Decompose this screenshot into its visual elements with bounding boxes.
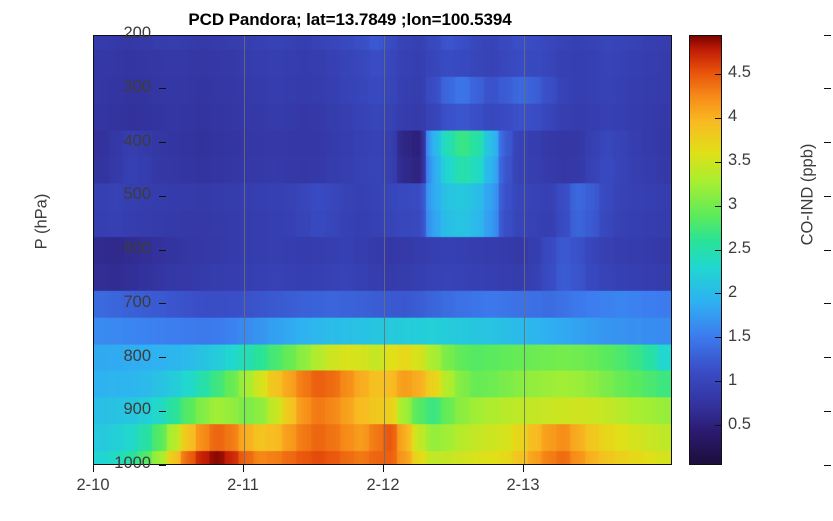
y-tick-mark [159, 357, 166, 358]
colorbar-tick-mark [715, 206, 722, 207]
colorbar-tick-label: 3.5 [728, 151, 751, 170]
heatmap-image [94, 36, 671, 464]
gridline-vertical [244, 36, 245, 464]
colorbar-tick-mark [715, 337, 722, 338]
y-tick-label: 700 [123, 293, 151, 312]
x-tick-mark [383, 465, 384, 472]
y-tick-label: 200 [123, 24, 151, 43]
y-tick-mark [159, 303, 166, 304]
colorbar-tick-label: 4 [728, 107, 737, 126]
y-tick-label: 900 [123, 400, 151, 419]
x-tick-mark [523, 465, 524, 472]
x-tick-label: 2-11 [227, 476, 259, 495]
colorbar-label: CO-IND (ppb) [799, 105, 818, 285]
colorbar-tick-label: 2 [728, 283, 737, 302]
colorbar-tick-label: 3 [728, 195, 737, 214]
y-tick-mark [159, 250, 166, 251]
y-tick-mark-right [824, 250, 831, 251]
colorbar-tick-mark [715, 74, 722, 75]
y-tick-mark-right [824, 88, 831, 89]
colorbar-tick-mark [715, 381, 722, 382]
heatmap-cells [94, 36, 671, 464]
x-tick-label: 2-12 [366, 476, 399, 495]
colorbar-tick-label: 0.5 [728, 415, 751, 434]
y-tick-label: 400 [123, 132, 151, 151]
y-axis-label: P (hPa) [33, 162, 52, 282]
gridline-vertical [524, 36, 525, 464]
colorbar-tick-mark [715, 162, 722, 163]
gridline-vertical [384, 36, 385, 464]
y-tick-mark-right [824, 142, 831, 143]
y-tick-mark [159, 196, 166, 197]
colorbar-tick-label: 1.5 [728, 327, 751, 346]
colorbar-tick-mark [715, 118, 722, 119]
y-tick-label: 500 [123, 185, 151, 204]
y-tick-mark [159, 411, 166, 412]
x-tick-label: 2-10 [76, 476, 109, 495]
y-tick-mark-right [824, 465, 831, 466]
x-tick-mark [243, 465, 244, 472]
y-tick-label: 800 [123, 347, 151, 366]
y-tick-mark-right [824, 357, 831, 358]
colorbar-tick-label: 2.5 [728, 239, 751, 258]
figure-canvas: PCD Pandora; lat=13.7849 ;lon=100.5394 2… [0, 0, 833, 521]
colorbar-tick-label: 4.5 [728, 63, 751, 82]
y-tick-label: 600 [123, 239, 151, 258]
y-tick-mark [159, 142, 166, 143]
colorbar-tick-mark [715, 250, 722, 251]
y-tick-label: 1000 [114, 454, 151, 473]
y-tick-label: 300 [123, 78, 151, 97]
colorbar-tick-label: 1 [728, 371, 737, 390]
y-tick-mark-right [824, 303, 831, 304]
y-tick-mark-right [824, 35, 831, 36]
colorbar-tick-mark [715, 293, 722, 294]
y-tick-mark-right [824, 196, 831, 197]
y-tick-mark-right [824, 411, 831, 412]
y-tick-mark [159, 88, 166, 89]
x-tick-mark [93, 465, 94, 472]
x-tick-label: 2-13 [506, 476, 539, 495]
colorbar-tick-mark [715, 425, 722, 426]
page-title: PCD Pandora; lat=13.7849 ;lon=100.5394 [0, 10, 700, 30]
heatmap-plot-area [93, 35, 672, 465]
y-tick-mark [159, 465, 166, 466]
y-tick-mark [159, 35, 166, 36]
